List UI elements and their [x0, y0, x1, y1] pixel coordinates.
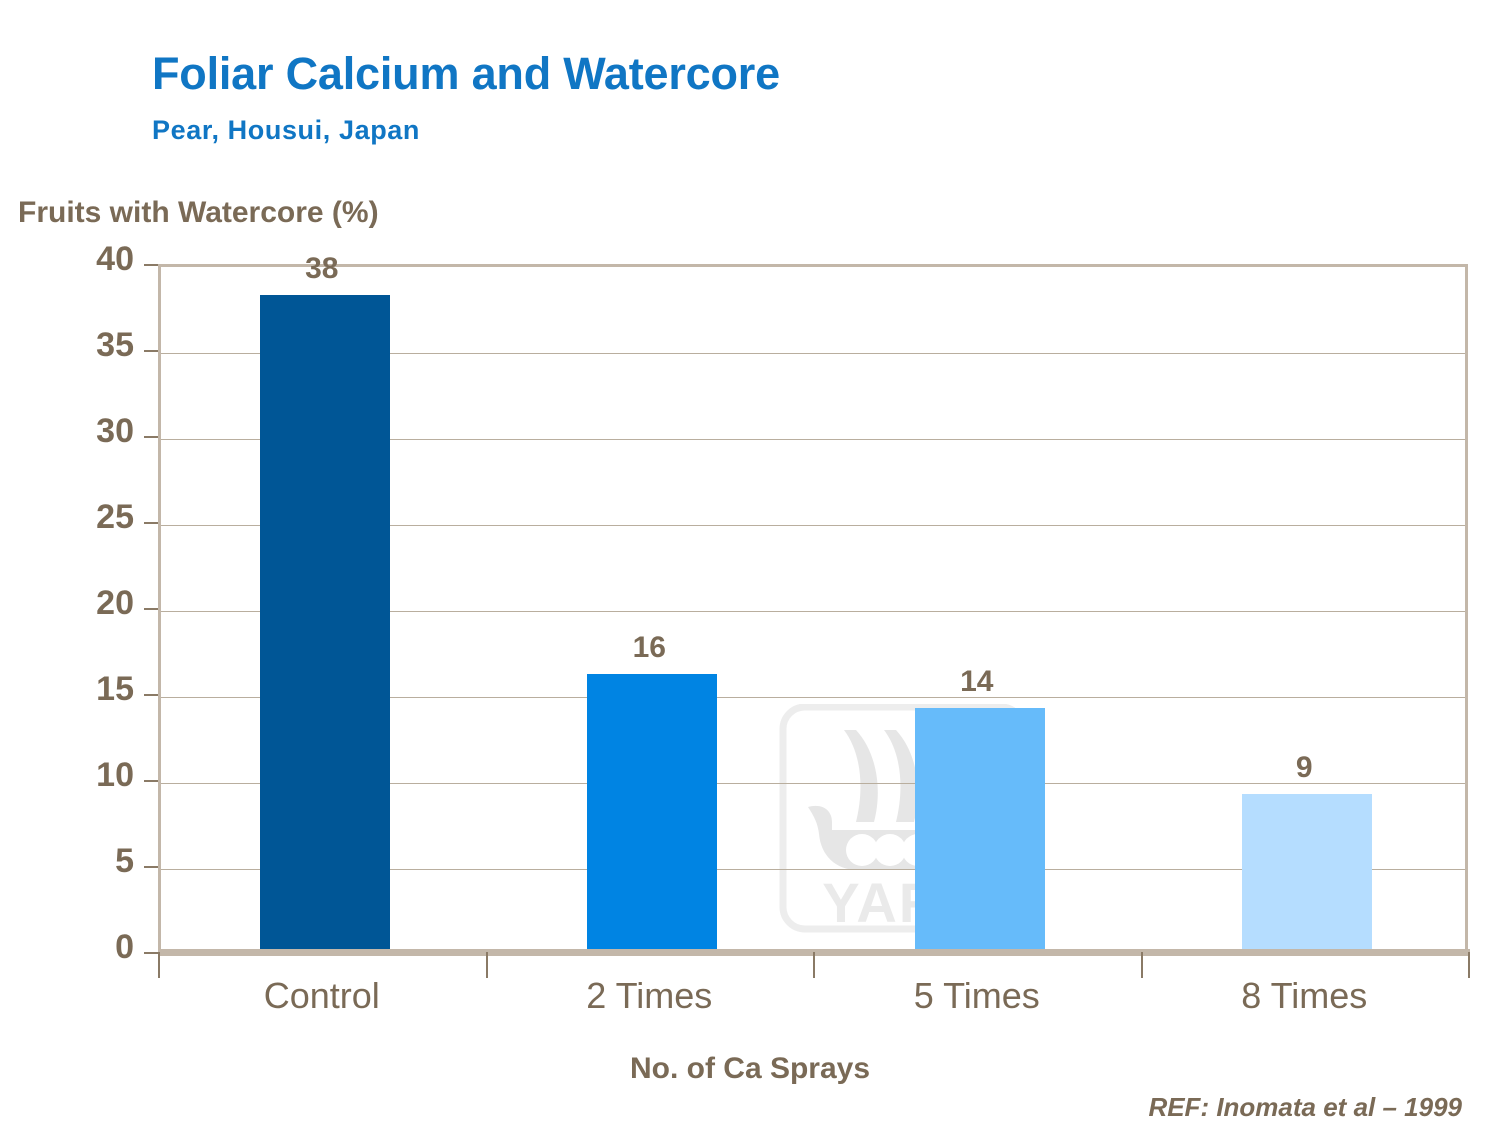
x-tickmark	[1468, 952, 1470, 978]
y-tickmark	[144, 350, 158, 352]
bar-value-label: 14	[897, 665, 1057, 699]
y-tickmark	[144, 694, 158, 696]
y-tickmark	[144, 436, 158, 438]
bar-8-times[interactable]	[1242, 794, 1372, 949]
y-tick-label: 20	[40, 584, 134, 623]
x-tickmark	[486, 952, 488, 978]
plot-area: YARA	[158, 264, 1468, 952]
bar-value-label: 38	[242, 252, 402, 286]
x-tickmark	[813, 952, 815, 978]
y-tickmark	[144, 608, 158, 610]
bar-5-times[interactable]	[915, 708, 1045, 949]
x-tickmark	[1141, 952, 1143, 978]
bar-value-label: 9	[1224, 751, 1384, 785]
bar-2-times[interactable]	[587, 674, 717, 949]
bar-control[interactable]	[260, 295, 390, 949]
y-tickmark	[144, 952, 158, 954]
y-tickmark	[144, 264, 158, 266]
y-tick-label: 35	[40, 326, 134, 365]
x-tickmark	[158, 952, 160, 978]
chart-subtitle: Pear, Housui, Japan	[152, 115, 420, 146]
chart-title: Foliar Calcium and Watercore	[152, 48, 780, 100]
y-axis-title: Fruits with Watercore (%)	[18, 196, 379, 230]
chart-reference: REF: Inomata et al – 1999	[1148, 1092, 1462, 1123]
y-tick-label: 5	[40, 842, 134, 881]
x-axis-title: No. of Ca Sprays	[0, 1052, 1500, 1086]
y-tick-label: 25	[40, 498, 134, 537]
x-tick-label-8-times: 8 Times	[1144, 975, 1464, 1017]
y-tickmark	[144, 866, 158, 868]
y-tickmark	[144, 522, 158, 524]
y-tick-label: 10	[40, 756, 134, 795]
x-tick-label-5-times: 5 Times	[817, 975, 1137, 1017]
bar-value-label: 16	[569, 631, 729, 665]
y-tick-label: 40	[40, 240, 134, 279]
y-tick-label: 0	[40, 928, 134, 967]
y-tick-label: 15	[40, 670, 134, 709]
y-tick-label: 30	[40, 412, 134, 451]
x-tick-label-2-times: 2 Times	[489, 975, 809, 1017]
x-tick-label-control: Control	[162, 975, 482, 1017]
y-tickmark	[144, 780, 158, 782]
